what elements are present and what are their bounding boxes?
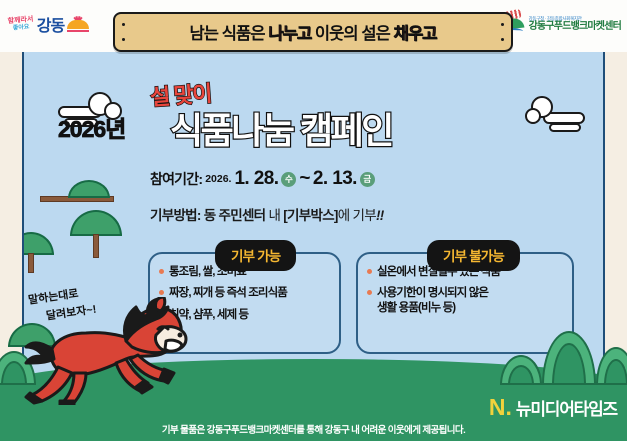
list-item: 사용기한이 명시되지 않은 생활 용품(비누 등) [367,286,564,315]
running-horse-illustration [22,297,194,405]
foodbank-name: 강동구푸드뱅크마켓센터 [529,21,621,33]
logo-script-line2: 좋아요 [13,24,30,31]
publisher-mark-icon: N. [489,396,512,419]
gangdong-district-logo: 함께라서 좋아요 강동 [8,4,128,44]
footer-caption: 기부 물품은 강동구푸드뱅크마켓센터를 통해 강동구 내 어려운 이웃에게 제공… [0,422,627,436]
ribbon-highlight2: 채우고 [394,25,437,43]
arch-decor-right [500,329,627,385]
sunrise-icon [67,16,89,32]
title-main: 식품나눔 캠페인 [170,102,392,154]
period-start-day-badge: 수 [281,172,296,187]
logo-gangdong-name: 강동 [37,12,64,36]
cloud-decor-right [525,96,587,138]
ribbon-highlight1: 나누고 [268,25,311,43]
panel-header-not-allowed: 기부 불가능 [427,240,520,271]
period-year: 2026. [205,173,231,185]
ribbon-part1: 남는 식품은 [190,25,269,43]
not-allowed-item-text: 사용기한이 명시되지 않은 생활 용품(비누 등) [377,286,488,315]
logo-script-line1: 함께라서 [7,16,33,25]
bullet-dot-icon [367,290,372,295]
logo-script-text: 함께라서 좋아요 [7,16,34,33]
headline-ribbon: 남는 식품은 나누고 이웃의 설은 채우고 [113,12,513,52]
bullet-dot-icon [159,269,164,274]
period-end-day-badge: 금 [360,172,375,187]
method-text2: 에 기부 [338,208,376,223]
poster-root: 함께라서 좋아요 강동 강동구청 · 강동종합사회복지관 강동구푸드뱅크마켓센터 [0,0,627,441]
period-label: 참여기간: [150,169,202,189]
panel-header-allowed: 기부 가능 [215,240,296,271]
donation-method: 기부방법: 동 주민센터 내 [기부박스]에 기부!! [150,204,384,224]
publisher-logo: N. 뉴미디어타임즈 [489,395,617,420]
ribbon-part2: 이웃의 설은 [311,25,393,43]
period-tilde: ~ [299,168,310,190]
bullet-dot-icon [367,269,372,274]
bullet-dot-icon [159,290,164,295]
period-end-date: 2. 13. [313,168,357,190]
roof-beam-decor [40,184,130,214]
method-label: 기부방법: [150,208,201,223]
ribbon-text: 남는 식품은 나누고 이웃의 설은 채우고 [190,20,437,44]
method-exclamation: !! [376,208,384,223]
method-box-label: [기부박스] [283,208,337,223]
foodbank-center-logo: 강동구청 · 강동종합사회복지관 강동구푸드뱅크마켓센터 [495,5,621,43]
publisher-name: 뉴미디어타임즈 [516,395,617,420]
method-plain: 내 [268,208,283,223]
method-text1: 동 주민센터 [201,208,269,223]
title-year: 2026년 [58,110,125,144]
participation-period: 참여기간: 2026. 1. 28. 수 ~ 2. 13. 금 [150,168,375,190]
period-start-date: 1. 28. [234,168,278,190]
